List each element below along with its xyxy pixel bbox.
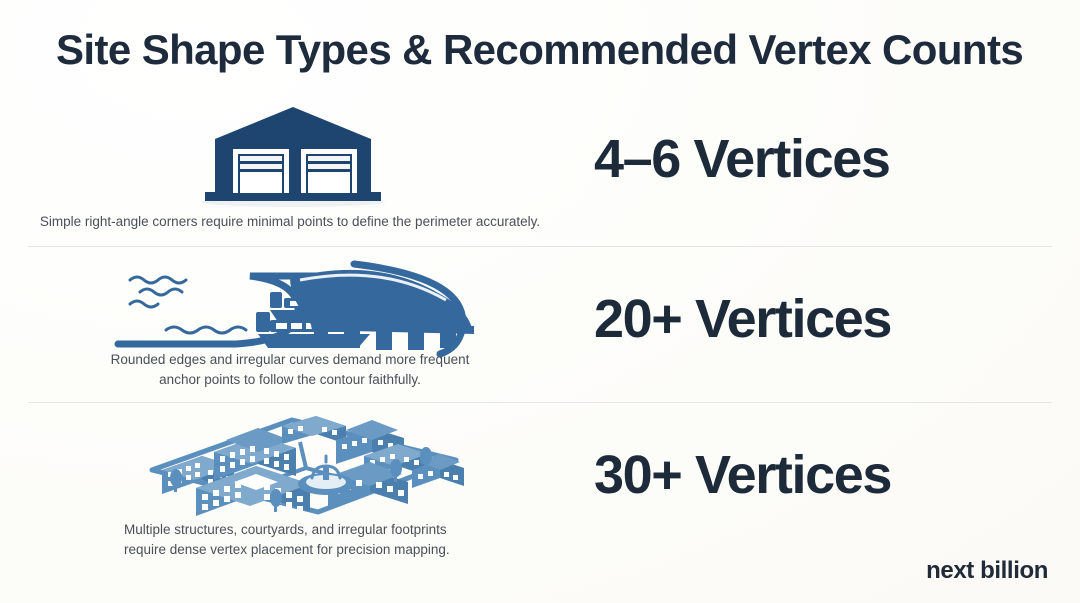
row-campus: Multiple structures, courtyards, and irr… (0, 412, 1080, 562)
warehouse-icon (0, 100, 580, 210)
marina-headline: 20+ Vertices (594, 288, 891, 350)
campus-caption: Multiple structures, courtyards, and irr… (124, 520, 544, 559)
divider-row-2 (28, 402, 1052, 403)
marina-icon-cell: Rounded edges and irregular curves deman… (0, 258, 580, 398)
campus-icon-cell: Multiple structures, courtyards, and irr… (0, 412, 580, 562)
warehouse-icon-cell: Simple right-angle corners require minim… (0, 100, 580, 240)
divider-row-1 (28, 246, 1052, 247)
campus-caption-line-2: require dense vertex placement for preci… (124, 540, 544, 560)
campus-icon (0, 412, 580, 517)
warehouse-headline: 4–6 Vertices (594, 128, 889, 190)
marina-caption-line-1: Rounded edges and irregular curves deman… (0, 350, 580, 370)
row-warehouse: Simple right-angle corners require minim… (0, 100, 1080, 240)
campus-headline: 30+ Vertices (594, 444, 891, 506)
marina-caption-line-2: anchor points to follow the contour fait… (0, 370, 580, 390)
campus-caption-line-1: Multiple structures, courtyards, and irr… (124, 520, 544, 540)
brand-logo: next billion (926, 557, 1048, 585)
page-title: Site Shape Types & Recommended Vertex Co… (56, 26, 1036, 74)
marina-icon (0, 258, 580, 354)
marina-caption: Rounded edges and irregular curves deman… (0, 350, 580, 389)
row-marina: Rounded edges and irregular curves deman… (0, 258, 1080, 398)
infographic-poster: Site Shape Types & Recommended Vertex Co… (0, 0, 1080, 603)
warehouse-caption: Simple right-angle corners require minim… (0, 212, 580, 232)
